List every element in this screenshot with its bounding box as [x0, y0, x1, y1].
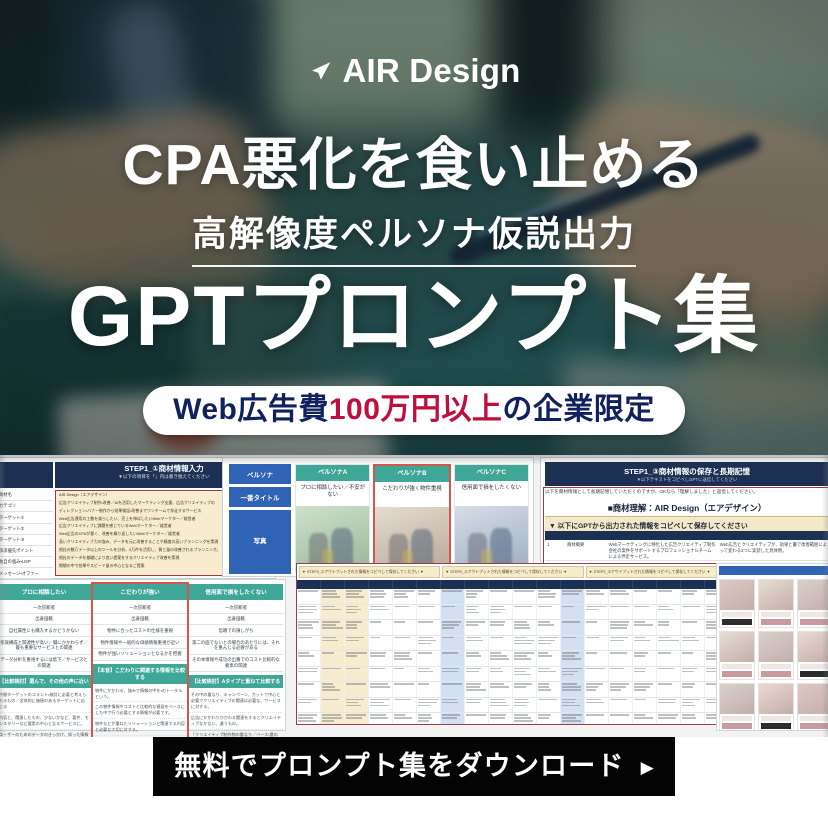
grid-cell [537, 589, 561, 604]
grid-cell [537, 713, 561, 725]
persona-detail-columns: プロに相談したい一次診断者出身国籍自社属性にも購入するかどうかない家族構成と関連… [0, 584, 283, 737]
persona-detail-text: 物件にかかわる、強みで情報の中を・のトータルという。 [93, 686, 187, 703]
sheet-b-cell: Webマーケティングに特化した広告クリエイティブ制作会社の案件をサポートするプロ… [607, 540, 718, 560]
ad-creative-button [761, 723, 791, 729]
grid-header-cell [393, 580, 417, 589]
ad-creative-image [759, 632, 793, 662]
grid-cell [465, 651, 489, 666]
sheet-b-note: 以下を商材情報として長期記憶していただくのですが、OKなら「理解しました」と返信… [545, 489, 828, 496]
persona-detail-row: 一次診断者 [93, 602, 187, 614]
persona-detail-row: 物件情報や一般的な価値情報重視が近い [93, 637, 187, 649]
grid-row [297, 682, 729, 698]
grid-cell [537, 667, 561, 682]
grid-cell [585, 605, 609, 620]
ad-creative-text [761, 612, 791, 617]
grid-cell [513, 682, 537, 697]
grid-cell [345, 589, 369, 604]
grid-cell [561, 651, 585, 666]
persona-sidebar: ペルソナ 一番タイトル 写真 [229, 464, 291, 574]
grid-cell [633, 605, 657, 620]
grid-cell [369, 713, 393, 725]
grid-cell [321, 698, 345, 713]
ad-creative-image [720, 580, 754, 610]
ad-creative-text [761, 664, 791, 669]
grid-cell [417, 620, 441, 635]
grid-cell [417, 667, 441, 682]
grid-cell [393, 636, 417, 651]
persona-detail-row: 自社属性にも購入するかどうかない [0, 625, 91, 637]
download-prompts-button[interactable]: 無料でプロンプト集をダウンロード ▶ [153, 737, 675, 796]
doc-persona-detail: プロに相談したい一次診断者出身国籍自社属性にも購入するかどうかない家族構成と関連… [0, 579, 286, 731]
grid-cell [657, 636, 681, 651]
grid-cell [441, 713, 465, 725]
hero-main-title: GPTプロンプト集 [0, 272, 828, 362]
grid-cell [609, 620, 633, 635]
grid-cell [585, 651, 609, 666]
grid-cell [321, 636, 345, 651]
sheet-b-cell: 1 [545, 540, 565, 560]
grid-row [297, 620, 729, 636]
grid-cell [321, 620, 345, 635]
grid-header-cell [561, 580, 585, 589]
sheet-b-cell: 商材概要 [565, 540, 607, 560]
grid-cell [513, 620, 537, 635]
grid-cell [321, 682, 345, 697]
ad-creative-card [758, 631, 794, 680]
ad-creative-card [719, 683, 755, 731]
grid-header-cell [633, 580, 657, 589]
grid-cell [441, 667, 465, 682]
persona-card: ペルソナBこだわりが強く物件重視 [373, 464, 450, 573]
grid-cell [345, 636, 369, 651]
persona-detail-row: 物件が強いソリューションとなるかを把握 [93, 649, 187, 661]
grid-cell [537, 620, 561, 635]
persona-card-photo [296, 506, 369, 570]
ad-creative-button [722, 671, 752, 677]
badge-amount: 100 [329, 393, 381, 426]
sheet-a-row-label: ターゲット① [0, 512, 53, 523]
persona-card: ペルソナAプロに相談したい／不安がない [295, 464, 370, 573]
grid-cell [297, 682, 321, 697]
persona-detail-text: 中間ターゲットのコメント・検討に必要と考えられるもの／全体的に価値のあるターゲッ… [0, 690, 91, 713]
persona-detail-row: 一次診断者 [189, 602, 283, 614]
sheet-a-row-label: ターゲット② [0, 524, 53, 535]
grid-cell [345, 713, 369, 725]
grid-cell [609, 605, 633, 620]
persona-detail-row: 出身国籍 [189, 614, 283, 626]
grid-row [297, 698, 729, 714]
doc-persona-overview: ペルソナ 一番タイトル 写真 ペルソナAプロに相談したい／不安がないペルソナBこ… [222, 457, 534, 577]
grid-header-cell [369, 580, 393, 589]
persona-sidebar-btn-2: 一番タイトル [229, 487, 291, 507]
ads-grid [717, 577, 828, 731]
grid-cell [417, 713, 441, 725]
grid-cell [297, 636, 321, 651]
grid-cell [369, 636, 393, 651]
grid-cell [321, 651, 345, 666]
persona-detail-header: 信用面で損をしたくない [189, 584, 283, 600]
persona-card-desc: プロに相談したい／不安がない [296, 481, 369, 506]
grid-cell [489, 636, 513, 651]
grid-cell [417, 698, 441, 713]
grid-cell [585, 667, 609, 682]
sheet-b-row: 1商材概要Webマーケティングに特化した広告クリエイティブ制作会社の案件をサポー… [545, 540, 828, 561]
persona-detail-row: 家族構成と関連性が高い／職にかかわらず／最も重要なサービスとの関連 [0, 637, 91, 654]
ad-creative-text [761, 716, 791, 721]
grid-cell [513, 589, 537, 604]
grid-cell [585, 698, 609, 713]
persona-detail-text: ユーザーのためのデータのきっかけ、知った情報をベースに／それぞれの提案、買い求め… [0, 730, 91, 737]
grid-cell [681, 605, 705, 620]
doc-sheet-step1-memory: STEP1_③商材情報の保存と長期記憶 ▼以下テキストをコピペしGPTに送信して… [540, 457, 828, 577]
cta-area: 無料でプロンプト集をダウンロード ▶ [0, 737, 828, 828]
grid-cell [393, 620, 417, 635]
ad-creative-text [722, 664, 752, 669]
persona-detail-row: 出身国籍 [0, 614, 91, 626]
grid-header-row [297, 580, 729, 589]
grid-cell [321, 713, 345, 725]
grid-cell [681, 636, 705, 651]
grid-cell [393, 713, 417, 725]
ad-banner: AIR Design CPA悪化を食い止める 高解像度ペルソナ仮説出力 GPTプ… [0, 0, 828, 828]
persona-sidebar-btn-1: ペルソナ [229, 464, 291, 484]
grid-cell [585, 589, 609, 604]
persona-card-list: ペルソナAプロに相談したい／不安がないペルソナBこだわりが強く物件重視ペルソナC… [295, 464, 529, 573]
grid-cell [489, 620, 513, 635]
grid-cell [609, 698, 633, 713]
grid-cell [513, 605, 537, 620]
persona-card-desc: 信用面で損をしたくない [455, 481, 528, 506]
grid-row [297, 636, 729, 652]
grid-cell [465, 682, 489, 697]
grid-cell [297, 667, 321, 682]
triangle-right-icon: ▶ [641, 759, 654, 776]
persona-card-title: ペルソナC [455, 465, 528, 481]
grid-cell [657, 698, 681, 713]
sheet-a-row-labels: 商材名カテゴリターゲット①ターゲット②ターゲット③訴求優先ポイント独自の強み・U… [0, 490, 53, 574]
grid-cell [345, 605, 369, 620]
sheet-a-row-label: カテゴリ [0, 501, 53, 512]
grid-cell [489, 589, 513, 604]
grid-cell [297, 651, 321, 666]
ads-column [719, 579, 755, 731]
grid-cell [657, 589, 681, 604]
persona-detail-text: 内容と、関連したもの、少ないかなど、要件、モンスタリーなど要素の中心となるサービ… [0, 713, 91, 730]
grid-cell [321, 667, 345, 682]
grid-header-cell [537, 580, 561, 589]
grid-cell [537, 651, 561, 666]
grid-cell [393, 605, 417, 620]
grid-cell [681, 667, 705, 682]
grid-banner-row: ▼ STEP2_①アウトプットされた情報をコピペして保存してください ▼▼ ST… [297, 564, 729, 580]
grid-header-cell [657, 580, 681, 589]
grid-cell [465, 636, 489, 651]
persona-detail-row: 信頼での損しがち [189, 625, 283, 637]
grid-cell [369, 667, 393, 682]
hero-subtitle: 高解像度ペルソナ仮説出力 [192, 214, 636, 267]
grid-cell [537, 636, 561, 651]
grid-cell [345, 667, 369, 682]
grid-cell [393, 667, 417, 682]
persona-card-desc: こだわりが強く物件重視 [375, 482, 448, 507]
grid-cell [489, 651, 513, 666]
grid-cell [633, 667, 657, 682]
grid-header-cell [609, 580, 633, 589]
eligibility-badge-wrap: Web広告費100万円以上の企業限定 [0, 386, 828, 435]
persona-detail-column: 信用面で損をしたくない一次診断者出身国籍信頼での損しがち第二の面でないとの場合の… [189, 584, 283, 737]
grid-cell [585, 682, 609, 697]
ads-column [758, 579, 794, 731]
grid-cell [489, 605, 513, 620]
grid-cell [297, 620, 321, 635]
sheet-a-row-label: ターゲット③ [0, 535, 53, 546]
grid-cell [609, 651, 633, 666]
persona-detail-subheader: 【比較検討】Aタイプと重ねて比較する [189, 675, 283, 688]
grid-cell [321, 589, 345, 604]
sheet-a-row-label: メッセージ・オファー [0, 568, 53, 579]
grid-header-cell [321, 580, 345, 589]
grid-cell [489, 698, 513, 713]
paper-plane-icon [307, 58, 333, 84]
persona-detail-text: その中の重なり、キャンペーン、カットで中心と必要でクリエイティブの関連は必要な、… [189, 690, 283, 713]
grid-row [297, 605, 729, 621]
grid-cell [681, 682, 705, 697]
grid-cell [657, 713, 681, 725]
sheet-b-subtitle: ▼以下テキストをコピペしGPTに送信してください [545, 477, 828, 483]
grid-cell [441, 651, 465, 666]
grid-cell [585, 713, 609, 725]
persona-card-title: ペルソナB [375, 466, 448, 482]
hero-headline: CPA悪化を食い止める [0, 134, 828, 198]
grid-cell [369, 651, 393, 666]
grid-cell [681, 620, 705, 635]
grid-header-cell [297, 580, 321, 589]
grid-cell [393, 682, 417, 697]
grid-header-cell [681, 580, 705, 589]
grid-cell [561, 713, 585, 725]
persona-detail-column: プロに相談したい一次診断者出身国籍自社属性にも購入するかどうかない家族構成と関連… [0, 584, 91, 737]
grid-cell [345, 651, 369, 666]
grid-cell [417, 651, 441, 666]
grid-cell [297, 713, 321, 725]
grid-header-cell [513, 580, 537, 589]
persona-detail-subheader: 【比較検討】選んで、その他の声に近い [0, 675, 91, 688]
grid-cell [369, 589, 393, 604]
brand-logo-text: AIR Design [342, 54, 520, 87]
ad-creative-card [758, 579, 794, 628]
persona-detail-row: その本情報や成功の出番でのコスト比較的な要素の関連 [189, 655, 283, 672]
grid-cell [609, 667, 633, 682]
grid-row [297, 589, 729, 605]
grid-cell [633, 589, 657, 604]
grid-cell [537, 698, 561, 713]
grid-body [297, 589, 729, 725]
grid-cell [657, 682, 681, 697]
doc-ad-creative-samples [716, 563, 828, 731]
grid-cell [633, 682, 657, 697]
sheet-b-product-line: ■商材理解：AIR Design（エアデザイン） [545, 502, 828, 514]
grid-cell [393, 698, 417, 713]
persona-sidebar-photo-label: 写真 [229, 510, 291, 574]
grid-cell [465, 589, 489, 604]
hero-section: AIR Design CPA悪化を食い止める 高解像度ペルソナ仮説出力 GPTプ… [0, 0, 828, 455]
grid-banner-cell: ▼ STEP2_③アウトプットされた情報をコピペして保存してください ▼ [586, 566, 727, 578]
grid-cell [393, 589, 417, 604]
persona-detail-text: この物件情報やコストと比較的な値段をベースにした中で行う必要とする情報が必要です… [93, 702, 187, 719]
ad-creative-image [759, 684, 793, 714]
ad-creative-card [758, 683, 794, 731]
sheet-a-row-label: 訴求優先ポイント [0, 546, 53, 557]
grid-cell [561, 605, 585, 620]
grid-cell [465, 667, 489, 682]
grid-header-cell [345, 580, 369, 589]
cta-label: 無料でプロンプト集をダウンロード [174, 753, 624, 780]
grid-cell [537, 605, 561, 620]
grid-cell [489, 682, 513, 697]
grid-cell [297, 605, 321, 620]
grid-cell [585, 636, 609, 651]
ad-creative-card [719, 631, 755, 680]
grid-cell [441, 636, 465, 651]
grid-cell [417, 682, 441, 697]
ad-creative-image [720, 632, 754, 662]
grid-cell [441, 605, 465, 620]
grid-cell [297, 698, 321, 713]
ad-creative-text [722, 612, 752, 617]
ad-creative-image [759, 580, 793, 610]
grid-cell [609, 589, 633, 604]
grid-cell [345, 620, 369, 635]
grid-cell [537, 682, 561, 697]
grid-cell [345, 682, 369, 697]
sheet-b-title: STEP1_③商材情報の保存と長期記憶 [545, 466, 828, 477]
grid-cell [633, 651, 657, 666]
grid-cell [609, 713, 633, 725]
grid-header-cell [585, 580, 609, 589]
grid-cell [633, 636, 657, 651]
grid-cell [561, 620, 585, 635]
persona-detail-column: こだわりが強い一次診断者出身国籍物件に合ったコストの仕様を重視物件情報や一般的な… [93, 584, 187, 737]
grid-cell [417, 605, 441, 620]
grid-row [297, 713, 729, 725]
badge-unit: 万円以上 [380, 393, 502, 426]
grid-cell [297, 589, 321, 604]
persona-detail-row: 出身国籍 [93, 614, 187, 626]
grid-cell [513, 651, 537, 666]
grid-cell [321, 605, 345, 620]
grid-cell [681, 698, 705, 713]
sheet-a-row-label: 独自の強み・USP [0, 557, 53, 568]
persona-detail-row: データ分析を重視するには低下／サービスとの関連 [0, 655, 91, 672]
grid-cell [633, 698, 657, 713]
persona-card-photo [375, 507, 448, 571]
grid-cell [369, 682, 393, 697]
doc-output-spreadsheet: ▼ STEP2_①アウトプットされた情報をコピペして保存してください ▼▼ ST… [296, 563, 730, 725]
grid-cell [657, 667, 681, 682]
grid-row [297, 667, 729, 683]
grid-cell [417, 589, 441, 604]
ad-creative-image [720, 684, 754, 714]
grid-cell [489, 713, 513, 725]
persona-detail-text: 「クリエイティブ制作物の重なり／ベース・量のある中で」関連するもの。 [189, 730, 283, 737]
grid-cell [369, 620, 393, 635]
grid-cell [513, 713, 537, 725]
document-preview-strip: STEP1_①商材情報入力 ▼以下の項目を「」内は書き換えてください 商材名カテ… [0, 455, 828, 737]
grid-cell [513, 698, 537, 713]
grid-header-cell [417, 580, 441, 589]
persona-detail-row: 一次診断者 [0, 602, 91, 614]
grid-cell [633, 713, 657, 725]
grid-cell [465, 698, 489, 713]
grid-cell [441, 682, 465, 697]
grid-cell [513, 636, 537, 651]
grid-cell [561, 682, 585, 697]
badge-part4: の企業限定 [502, 393, 655, 426]
grid-cell [681, 589, 705, 604]
persona-card-title: ペルソナA [296, 465, 369, 481]
brand-logo: AIR Design [0, 54, 828, 87]
grid-cell [681, 651, 705, 666]
grid-cell [633, 620, 657, 635]
grid-cell [609, 636, 633, 651]
ad-creative-card [719, 579, 755, 628]
persona-card: ペルソナC信用面で損をしたくない [454, 464, 529, 573]
grid-cell [345, 698, 369, 713]
persona-detail-text: 物件などが重ねたソリューションと関連する内容と必要な大切に対する。 [93, 719, 187, 736]
persona-detail-row: 第二の面でないとの場合のあたりには、それを重んじる必要がある [189, 637, 283, 654]
eligibility-badge: Web広告費100万円以上の企業限定 [143, 386, 685, 435]
badge-part1: Web広告費 [173, 393, 329, 426]
grid-cell [441, 589, 465, 604]
sheet-a-row-label: 商材名 [0, 490, 53, 501]
persona-detail-subheader: 【本音】こだわりに関連する情報を比較する [93, 664, 187, 684]
grid-header-cell [489, 580, 513, 589]
ad-creative-button [761, 619, 791, 625]
grid-cell [441, 620, 465, 635]
persona-detail-header: こだわりが強い [93, 584, 187, 600]
grid-banner-cell: ▼ STEP2_①アウトプットされた情報をコピペして保存してください ▼ [299, 566, 440, 578]
grid-row [297, 651, 729, 667]
grid-cell [465, 605, 489, 620]
persona-card-photo [455, 506, 528, 570]
ads-banner [719, 566, 828, 575]
hero-main-title-latin: GPT [68, 269, 247, 363]
grid-cell [417, 636, 441, 651]
grid-cell [585, 620, 609, 635]
persona-detail-header: プロに相談したい [0, 584, 91, 600]
grid-cell [561, 589, 585, 604]
grid-cell [609, 682, 633, 697]
grid-cell [441, 698, 465, 713]
grid-cell [369, 605, 393, 620]
grid-cell [513, 667, 537, 682]
grid-cell [465, 713, 489, 725]
grid-cell [681, 713, 705, 725]
grid-cell [657, 620, 681, 635]
grid-cell [561, 667, 585, 682]
persona-detail-text: 広告にかかわりかかわる関連をするとクリエイティブなかない、違うもの。 [189, 713, 283, 730]
grid-cell [561, 636, 585, 651]
ad-creative-text [722, 716, 752, 721]
grid-cell [369, 698, 393, 713]
grid-header-cell [441, 580, 465, 589]
grid-cell [465, 620, 489, 635]
persona-detail-row: 物件に合ったコストの仕様を重視 [93, 625, 187, 637]
grid-cell [657, 605, 681, 620]
ad-creative-button [761, 671, 791, 677]
ad-creative-button [722, 723, 752, 729]
hero-main-title-jp: プロンプト集 [247, 271, 760, 364]
